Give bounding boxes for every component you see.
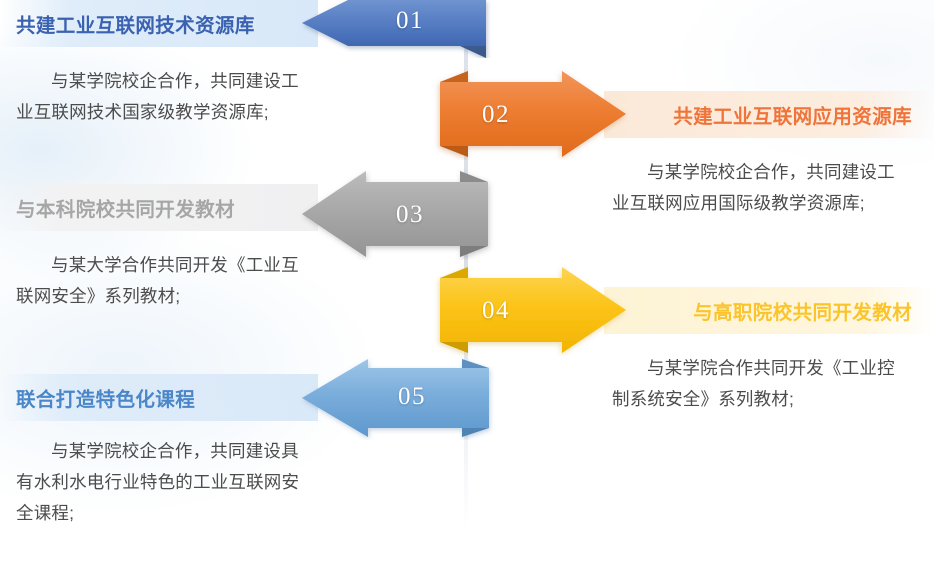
step-05-title: 联合打造特色化课程	[16, 383, 195, 412]
step-03-title-banner: 与本科院校共同开发教材	[0, 184, 318, 231]
step-01-body: 与某学院校企合作，共同建设工业互联网技术国家级教学资源库;	[16, 66, 308, 128]
step-02-title: 共建工业互联网应用资源库	[673, 100, 912, 129]
step-01-arrow[interactable]: 01	[300, 0, 492, 58]
arrow-left-icon	[298, 356, 496, 440]
step-02-arrow[interactable]: 02	[432, 68, 630, 160]
step-04-title: 与高职院校共同开发教材	[693, 296, 912, 325]
step-01-title: 共建工业互联网技术资源库	[16, 9, 255, 38]
step-05-arrow[interactable]: 05	[298, 356, 496, 440]
arrow-left-icon	[298, 168, 496, 260]
step-03-arrow[interactable]: 03	[298, 168, 496, 260]
step-04-body: 与某学院合作共同开发《工业控制系统安全》系列教材;	[612, 353, 912, 415]
step-01-title-banner: 共建工业互联网技术资源库	[0, 0, 318, 47]
step-05-title-banner: 联合打造特色化课程	[0, 374, 318, 421]
step-03-body: 与某大学合作共同开发《工业互联网安全》系列教材;	[16, 250, 308, 312]
step-03-title: 与本科院校共同开发教材	[16, 193, 235, 222]
diagram-canvas: 共建工业互联网技术资源库	[0, 0, 934, 565]
step-04-arrow[interactable]: 04	[432, 264, 630, 356]
step-04-title-banner: 与高职院校共同开发教材	[604, 287, 934, 334]
step-02-title-banner: 共建工业互联网应用资源库	[604, 91, 934, 138]
arrow-right-icon	[432, 264, 630, 356]
arrow-right-icon	[432, 68, 630, 160]
step-02-body: 与某学院校企合作，共同建设工业互联网应用国际级教学资源库;	[612, 157, 912, 219]
arrow-left-icon	[300, 0, 492, 58]
step-05-body: 与某学院校企合作，共同建设具有水利水电行业特色的工业互联网安全课程;	[16, 436, 308, 529]
